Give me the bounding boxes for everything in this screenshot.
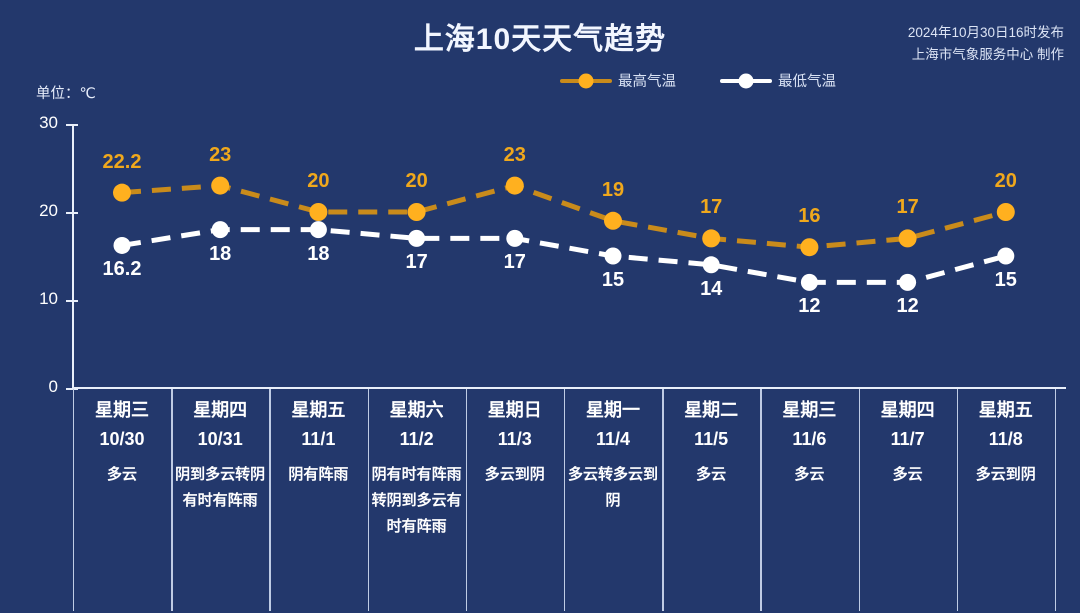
day-column[interactable]: 星期一11/4多云转多云到阴 [564,396,662,514]
column-separator [73,389,75,611]
y-axis-tick-mark [66,300,78,302]
weather-condition-label: 多云转多云到阴 [564,462,662,514]
day-column[interactable]: 星期五11/1阴有阵雨 [269,396,367,488]
data-point-marker-low [703,256,720,273]
data-point-marker-low [310,221,327,238]
date-label: 11/8 [957,424,1055,454]
column-separator [662,389,664,611]
y-axis-tick-mark [66,124,78,126]
weather-condition-label: 多云 [760,462,858,488]
legend-low-line-icon [720,79,772,83]
weekday-label: 星期五 [957,396,1055,424]
legend-low-dot-icon [739,73,754,88]
data-point-marker-high [506,177,524,195]
weather-trend-chart: 上海10天天气趋势 2024年10月30日16时发布 上海市气象服务中心 制作 … [0,0,1080,613]
data-point-marker-high [309,203,327,221]
day-column[interactable]: 星期四11/7多云 [859,396,957,488]
weekday-label: 星期二 [662,396,760,424]
day-column[interactable]: 星期三11/6多云 [760,396,858,488]
data-point-marker-low [506,230,523,247]
value-label-high: 23 [504,144,526,167]
value-label-high: 20 [405,170,427,193]
series-line-low [122,230,1006,283]
data-point-marker-low [212,221,229,238]
data-point-marker-high [604,212,622,230]
date-label: 11/2 [368,424,466,454]
legend-high-label: 最高气温 [618,70,676,91]
y-axis-tick-mark [66,212,78,214]
date-label: 11/5 [662,424,760,454]
weather-condition-label: 多云 [662,462,760,488]
legend-item-high: 最高气温 [560,70,676,91]
weather-condition-label: 阴到多云转阴有时有阵雨 [171,462,269,514]
publisher-name: 上海市气象服务中心 制作 [908,44,1064,66]
weekday-label: 星期三 [760,396,858,424]
column-separator [466,389,468,611]
data-point-marker-low [114,237,131,254]
value-label-high: 22.2 [103,151,142,174]
date-label: 11/1 [269,424,367,454]
value-label-low: 18 [307,243,329,266]
y-axis-tick-label: 30 [20,113,58,133]
publish-info: 2024年10月30日16时发布 上海市气象服务中心 制作 [908,22,1064,66]
day-column[interactable]: 星期五11/8多云到阴 [957,396,1055,488]
value-label-low: 17 [405,251,427,274]
data-point-marker-low [997,248,1014,265]
y-axis-tick-label: 0 [20,377,58,397]
column-separator [564,389,566,611]
value-label-high: 16 [798,205,820,228]
weather-condition-label: 阴有时有阵雨转阴到多云有时有阵雨 [368,462,466,540]
series-line-high [122,186,1006,248]
legend-high-line-icon [560,79,612,83]
value-label-high: 17 [700,196,722,219]
data-point-marker-high [211,177,229,195]
weekday-label: 星期五 [269,396,367,424]
value-label-high: 20 [307,170,329,193]
weather-condition-label: 多云到阴 [957,462,1055,488]
column-separator [269,389,271,611]
value-label-low: 18 [209,243,231,266]
day-column[interactable]: 星期四10/31阴到多云转阴有时有阵雨 [171,396,269,514]
date-label: 11/3 [466,424,564,454]
weekday-label: 星期四 [859,396,957,424]
x-axis-line [72,387,1066,389]
value-label-low: 15 [602,269,624,292]
y-axis-tick-label: 10 [20,289,58,309]
publish-time: 2024年10月30日16时发布 [908,22,1064,44]
legend-low-label: 最低气温 [778,70,836,91]
column-separator [368,389,370,611]
column-separator [171,389,173,611]
legend-item-low: 最低气温 [720,70,836,91]
weather-condition-label: 多云到阴 [466,462,564,488]
data-point-marker-high [113,184,131,202]
date-label: 11/4 [564,424,662,454]
column-separator [760,389,762,611]
legend-high-dot-icon [579,73,594,88]
day-column[interactable]: 星期日11/3多云到阴 [466,396,564,488]
weather-condition-label: 多云 [859,462,957,488]
data-point-marker-high [899,229,917,247]
column-separator [1055,389,1057,611]
column-separator [859,389,861,611]
value-label-high: 23 [209,144,231,167]
data-point-marker-high [408,203,426,221]
weekday-label: 星期日 [466,396,564,424]
weekday-label: 星期三 [73,396,171,424]
y-axis-line [72,124,74,388]
day-column[interactable]: 星期三10/30多云 [73,396,171,488]
date-label: 11/6 [760,424,858,454]
unit-label: 单位：℃ [36,82,96,103]
value-label-high: 17 [896,196,918,219]
data-point-marker-low [801,274,818,291]
value-label-low: 16.2 [103,258,142,281]
weekday-label: 星期一 [564,396,662,424]
value-label-low: 14 [700,278,722,301]
data-point-marker-low [605,248,622,265]
weather-condition-label: 阴有阵雨 [269,462,367,488]
value-label-high: 19 [602,179,624,202]
date-label: 10/30 [73,424,171,454]
weather-condition-label: 多云 [73,462,171,488]
data-point-marker-high [997,203,1015,221]
date-label: 11/7 [859,424,957,454]
value-label-low: 12 [798,295,820,318]
chart-legend: 最高气温 最低气温 [0,70,1080,96]
data-point-marker-low [408,230,425,247]
value-label-high: 20 [995,170,1017,193]
value-label-low: 17 [504,251,526,274]
day-column[interactable]: 星期二11/5多云 [662,396,760,488]
data-point-marker-high [702,229,720,247]
weekday-label: 星期六 [368,396,466,424]
day-column[interactable]: 星期六11/2阴有时有阵雨转阴到多云有时有阵雨 [368,396,466,540]
weekday-label: 星期四 [171,396,269,424]
value-label-low: 15 [995,269,1017,292]
data-point-marker-high [800,238,818,256]
data-point-marker-low [899,274,916,291]
column-separator [957,389,959,611]
date-label: 10/31 [171,424,269,454]
y-axis-tick-label: 20 [20,201,58,221]
value-label-low: 12 [896,295,918,318]
